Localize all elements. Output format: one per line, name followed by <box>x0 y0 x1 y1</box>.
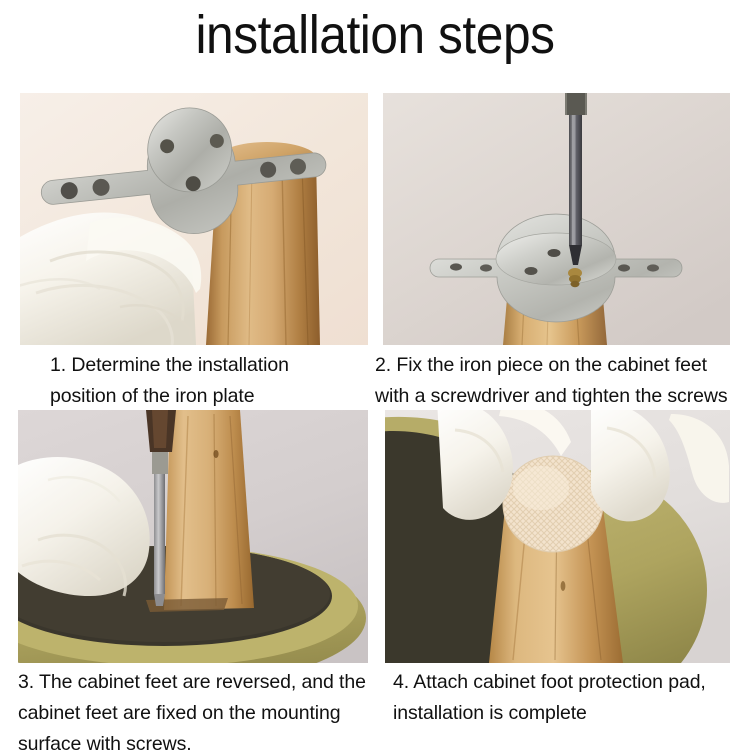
step-3-illustration <box>18 410 368 663</box>
step-3-caption: 3. The cabinet feet are reversed, and th… <box>18 667 388 750</box>
step-4-caption: 4. Attach cabinet foot protection pad, i… <box>393 667 748 729</box>
step-2-illustration <box>383 93 730 345</box>
step-1-image <box>20 93 368 345</box>
step-2-caption: 2. Fix the iron piece on the cabinet fee… <box>375 350 750 412</box>
step-1-caption: 1. Determine the installation position o… <box>50 350 370 412</box>
page-title: installation steps <box>30 4 720 66</box>
step-1-illustration <box>20 93 368 345</box>
installation-steps-infographic: installation steps <box>0 0 750 750</box>
step-4-illustration <box>385 410 730 663</box>
step-3-image <box>18 410 368 663</box>
step-4-image <box>385 410 730 663</box>
step-2-image <box>383 93 730 345</box>
